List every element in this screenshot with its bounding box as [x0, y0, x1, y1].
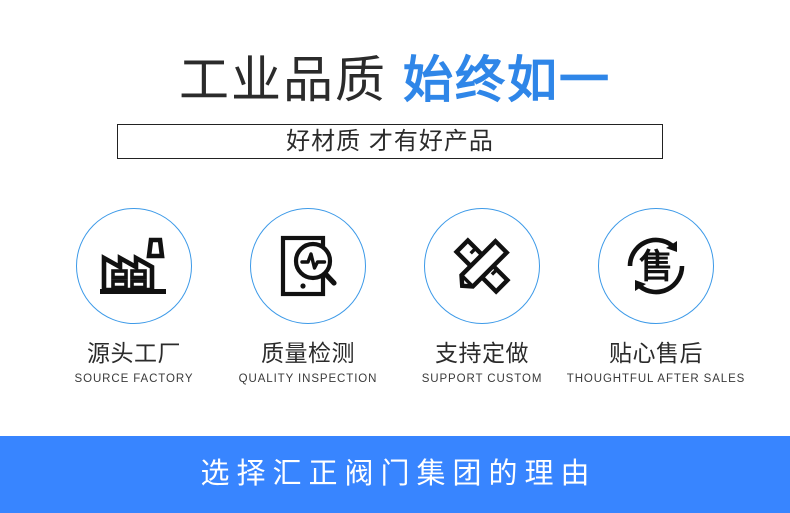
- promo-banner-page: 工业品质始终如一 好材质 才有好产品: [0, 0, 790, 513]
- feature-label-en: QUALITY INSPECTION: [239, 374, 378, 386]
- feature-item-quality-inspection[interactable]: 质量检测 QUALITY INSPECTION: [228, 208, 388, 386]
- icon-circle: [250, 208, 366, 324]
- icon-circle: 售: [598, 208, 714, 324]
- feature-label-cn: 源头工厂: [87, 341, 181, 365]
- feature-label-cn: 贴心售后: [609, 341, 703, 365]
- icon-circle: [424, 208, 540, 324]
- feature-label-cn: 支持定做: [435, 341, 529, 365]
- feature-label-en: SOURCE FACTORY: [75, 374, 194, 386]
- page-title: 工业品质始终如一: [0, 50, 790, 110]
- page-title-accent: 始终如一: [403, 52, 611, 108]
- bottom-banner-text: 选择汇正阀门集团的理由: [193, 460, 596, 489]
- icon-circle: [76, 208, 192, 324]
- after-sales-cycle-icon: 售: [620, 230, 692, 302]
- bottom-banner: 选择汇正阀门集团的理由: [0, 436, 790, 513]
- subtitle-box: 好材质 才有好产品: [117, 124, 663, 159]
- feature-list: 源头工厂 SOURCE FACTORY: [0, 208, 790, 386]
- feature-item-after-sales[interactable]: 售 贴心售后 THOUGHTFUL AFTER SALES: [576, 208, 736, 386]
- svg-text:售: 售: [639, 247, 673, 287]
- feature-label-en: THOUGHTFUL AFTER SALES: [567, 374, 745, 386]
- ruler-pencil-icon: [447, 231, 517, 301]
- feature-item-support-custom[interactable]: 支持定做 SUPPORT CUSTOM: [402, 208, 562, 386]
- page-title-primary: 工业品质: [179, 52, 387, 108]
- feature-item-source-factory[interactable]: 源头工厂 SOURCE FACTORY: [54, 208, 214, 386]
- feature-label-cn: 质量检测: [261, 341, 355, 365]
- feature-label-en: SUPPORT CUSTOM: [422, 374, 543, 386]
- document-inspection-icon: [273, 232, 343, 300]
- factory-icon: [98, 234, 170, 298]
- subtitle-text: 好材质 才有好产品: [286, 130, 494, 154]
